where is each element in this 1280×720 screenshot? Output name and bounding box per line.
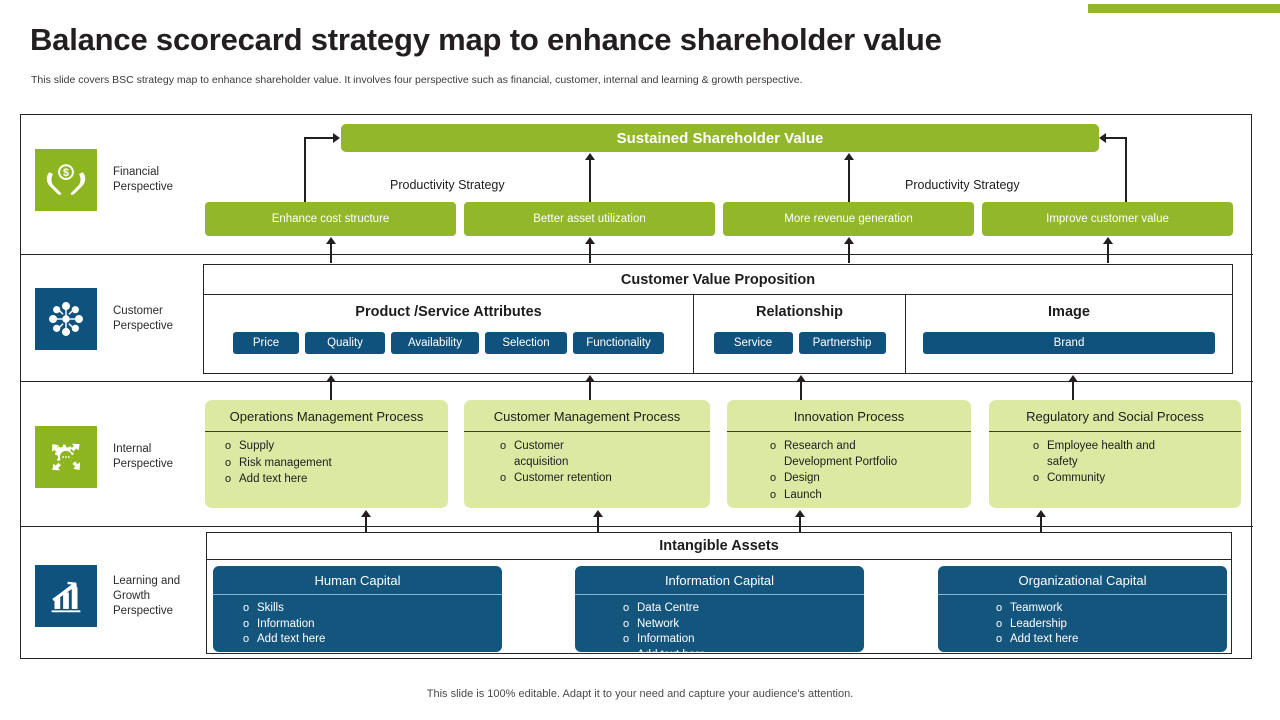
financial-driver-enhance-cost-structure[interactable]: Enhance cost structure [205, 202, 456, 236]
list-item: Add text here [637, 648, 858, 652]
perspective-customer: Customer Perspective [30, 283, 173, 355]
cvp-chip-brand[interactable]: Brand [923, 332, 1215, 354]
financial-icon-tile: $ [30, 144, 102, 216]
connector-cvp-to-better-asset-arrow [585, 237, 595, 244]
connector-cvp-to-enhance-cost [330, 243, 332, 263]
perspective-customer-line2: Perspective [113, 319, 173, 334]
list-item: Community [1047, 471, 1235, 487]
perspective-learning-label: Learning and Growth Perspective [113, 574, 180, 619]
cvp-group-title-product-service: Product /Service Attributes [204, 295, 693, 320]
internal-process-customer-management-title: Customer Management Process [464, 400, 710, 432]
capital-human-list: Skills Information Add text here [213, 601, 502, 648]
cvp-chip-availability[interactable]: Availability [391, 332, 479, 354]
internal-process-operations-list: Supply Risk management Add text here [205, 439, 448, 488]
internal-process-regulatory-social[interactable]: Regulatory and Social Process Employee h… [989, 400, 1241, 508]
capital-information-list: Data Centre Network Information Add text… [575, 601, 864, 652]
sustained-shareholder-value-box[interactable]: Sustained Shareholder Value [341, 124, 1099, 152]
connector-cvp-to-more-revenue-arrow [844, 237, 854, 244]
connector-operations-to-cvp [330, 381, 332, 401]
perspective-internal: Internal Perspective [30, 421, 173, 493]
customer-value-proposition-panel: Customer Value Proposition Product /Serv… [203, 264, 1233, 374]
connector-cvp-to-better-asset [589, 243, 591, 263]
connector-better-asset-arrow [585, 153, 595, 160]
connector-to-innovation-arrow [795, 510, 805, 517]
list-item: Network [637, 617, 858, 633]
row-separator-internal-learning [21, 526, 1253, 527]
cvp-chip-selection[interactable]: Selection [485, 332, 567, 354]
connector-more-revenue-arrow [844, 153, 854, 160]
connector-to-regulatory-social-arrow [1036, 510, 1046, 517]
list-item: Supply [239, 439, 442, 455]
productivity-strategy-label-left: Productivity Strategy [390, 178, 505, 192]
cvp-chip-partnership[interactable]: Partnership [799, 332, 886, 354]
internal-process-regulatory-social-title: Regulatory and Social Process [989, 400, 1241, 432]
network-nodes-icon [43, 296, 89, 342]
perspective-financial-label: Financial Perspective [113, 165, 173, 195]
perspective-financial-line1: Financial [113, 165, 173, 180]
perspective-learning-line3: Perspective [113, 604, 180, 619]
list-item: Add text here [239, 472, 442, 488]
list-item: Employee health and safety [1047, 439, 1157, 470]
perspective-internal-label: Internal Perspective [113, 442, 173, 472]
internal-process-innovation-list: Research and Development Portfolio Desig… [727, 439, 971, 503]
internal-process-innovation-title: Innovation Process [727, 400, 971, 432]
cvp-chip-quality[interactable]: Quality [305, 332, 385, 354]
growth-bar-chart-icon [43, 573, 89, 619]
connector-customer-mgmt-to-cvp [589, 381, 591, 401]
financial-driver-better-asset-utilization[interactable]: Better asset utilization [464, 202, 715, 236]
hands-holding-money-icon: $ [43, 157, 89, 203]
intangible-assets-title: Intangible Assets [207, 533, 1231, 560]
page-subtitle: This slide covers BSC strategy map to en… [31, 74, 803, 86]
perspective-customer-line1: Customer [113, 304, 173, 319]
cvp-group-product-service-attributes: Product /Service Attributes Price Qualit… [204, 295, 693, 373]
list-item: Add text here [1010, 632, 1221, 648]
capital-information[interactable]: Information Capital Data Centre Network … [575, 566, 864, 652]
customer-value-proposition-columns: Product /Service Attributes Price Qualit… [204, 295, 1232, 373]
connector-innovation-to-cvp [800, 381, 802, 401]
perspective-customer-label: Customer Perspective [113, 304, 173, 334]
connector-cvp-to-improve-customer [1107, 243, 1109, 263]
svg-text:$: $ [63, 167, 69, 179]
list-item: Information [257, 617, 496, 633]
financial-driver-more-revenue-generation[interactable]: More revenue generation [723, 202, 974, 236]
list-item: Information [637, 632, 858, 648]
perspective-learning-line1: Learning and [113, 574, 180, 589]
list-item: Customer retention [514, 471, 704, 487]
financial-driver-improve-customer-value[interactable]: Improve customer value [982, 202, 1233, 236]
connector-customer-mgmt-to-cvp-arrow [585, 375, 595, 382]
cvp-group-image: Image Brand [905, 295, 1232, 373]
connector-improve-customer-arrow [1099, 133, 1106, 143]
capital-organizational-list: Teamwork Leadership Add text here [938, 601, 1227, 648]
list-item: Teamwork [1010, 601, 1221, 617]
connector-enhance-cost-to-hero-horizontal [304, 137, 334, 139]
customer-value-proposition-title: Customer Value Proposition [204, 265, 1232, 295]
connector-operations-to-cvp-arrow [326, 375, 336, 382]
productivity-strategy-label-right: Productivity Strategy [905, 178, 1020, 192]
internal-process-innovation[interactable]: Innovation Process Research and Developm… [727, 400, 971, 508]
internal-process-customer-management[interactable]: Customer Management Process Customer acq… [464, 400, 710, 508]
perspective-learning: Learning and Growth Perspective [30, 560, 180, 632]
internal-icon-tile [30, 421, 102, 493]
internal-process-operations-title: Operations Management Process [205, 400, 448, 432]
connector-cvp-to-improve-customer-arrow [1103, 237, 1113, 244]
capital-human-title: Human Capital [213, 566, 502, 595]
cvp-chip-price[interactable]: Price [233, 332, 299, 354]
connector-innovation-to-cvp-arrow [796, 375, 806, 382]
list-item: Data Centre [637, 601, 858, 617]
row-separator-financial-customer [21, 254, 1253, 255]
perspective-learning-line2: Growth [113, 589, 180, 604]
capital-organizational-title: Organizational Capital [938, 566, 1227, 595]
connector-to-customer-management-arrow [593, 510, 603, 517]
list-item: Customer acquisition [514, 439, 606, 470]
cvp-group-title-relationship: Relationship [694, 295, 905, 320]
connector-improve-customer-to-hero-horizontal [1106, 137, 1127, 139]
connector-cvp-to-enhance-cost-arrow [326, 237, 336, 244]
footer-note: This slide is 100% editable. Adapt it to… [0, 688, 1280, 700]
connector-regulatory-to-cvp-arrow [1068, 375, 1078, 382]
list-item: Skills [257, 601, 496, 617]
capital-information-title: Information Capital [575, 566, 864, 595]
list-item: Research and Development Portfolio [784, 439, 914, 470]
connector-improve-customer-to-hero-vertical [1125, 138, 1127, 202]
internal-process-regulatory-social-list: Employee health and safety Community [989, 439, 1241, 487]
page-title: Balance scorecard strategy map to enhanc… [30, 22, 942, 58]
list-item: Leadership [1010, 617, 1221, 633]
connector-human-capital-to-operations-arrow [361, 510, 371, 517]
perspective-financial: $ Financial Perspective [30, 144, 173, 216]
connector-more-revenue-to-hero [848, 159, 850, 202]
list-item: Design [784, 471, 965, 487]
connector-cvp-to-more-revenue [848, 243, 850, 263]
accent-bar [1088, 4, 1280, 13]
cvp-group-relationship: Relationship Service Partnership [693, 295, 905, 373]
connector-better-asset-to-hero [589, 159, 591, 202]
connector-regulatory-to-cvp [1072, 381, 1074, 401]
cvp-group-title-image: Image [906, 295, 1232, 320]
internal-process-customer-management-list: Customer acquisition Customer retention [464, 439, 710, 487]
capital-organizational[interactable]: Organizational Capital Teamwork Leadersh… [938, 566, 1227, 652]
cvp-chip-row-image: Brand [906, 332, 1232, 354]
cvp-chip-service[interactable]: Service [714, 332, 793, 354]
gear-arrows-icon [43, 434, 89, 480]
perspective-internal-line2: Perspective [113, 457, 173, 472]
list-item: Risk management [239, 456, 442, 472]
internal-process-operations[interactable]: Operations Management Process Supply Ris… [205, 400, 448, 508]
customer-icon-tile [30, 283, 102, 355]
cvp-chip-functionality[interactable]: Functionality [573, 332, 664, 354]
cvp-chip-row-relationship: Service Partnership [694, 332, 905, 354]
connector-enhance-cost-to-hero-vertical [304, 138, 306, 202]
learning-icon-tile [30, 560, 102, 632]
perspective-internal-line1: Internal [113, 442, 173, 457]
list-item: Launch [784, 488, 965, 504]
list-item: Add text here [257, 632, 496, 648]
perspective-financial-line2: Perspective [113, 180, 173, 195]
capital-human[interactable]: Human Capital Skills Information Add tex… [213, 566, 502, 652]
cvp-chip-row-product-service: Price Quality Availability Selection Fun… [204, 332, 693, 354]
connector-enhance-cost-arrow [333, 133, 340, 143]
